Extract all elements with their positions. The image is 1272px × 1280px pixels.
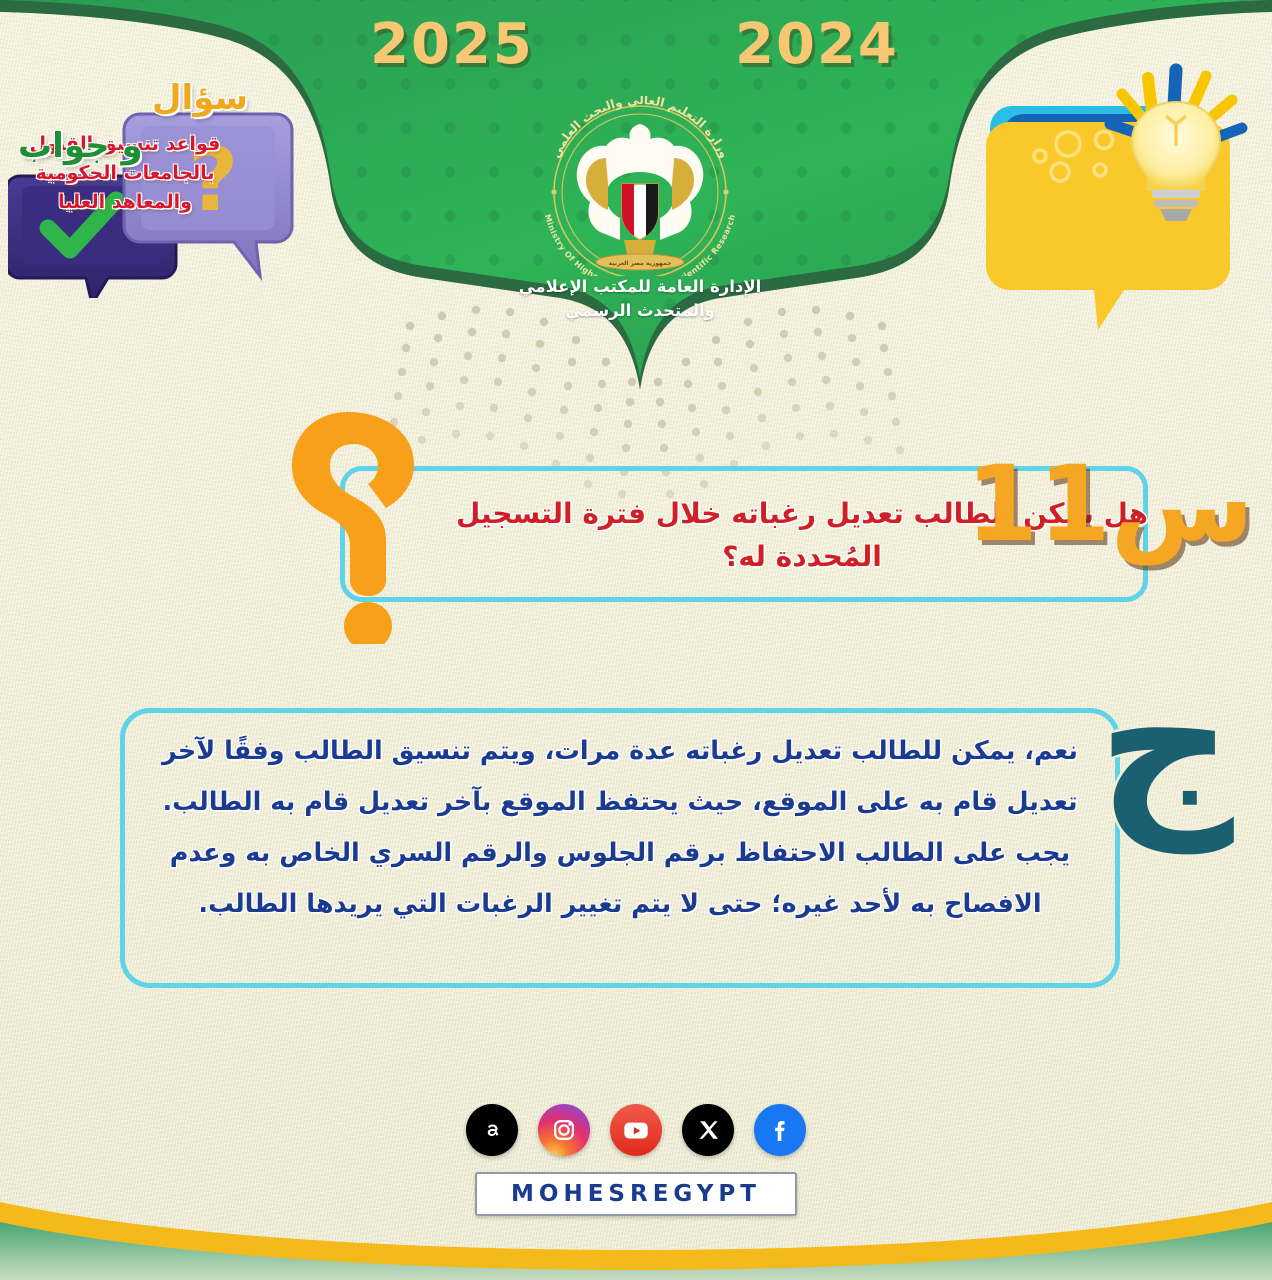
x-twitter-icon[interactable] (682, 1104, 734, 1156)
answer-letter-badge: ج (1097, 648, 1234, 838)
answer-text: نعم، يمكن للطالب تعديل رغباته عدة مرات، … (150, 726, 1090, 930)
year-2024-label: 2024 (735, 12, 899, 77)
rules-card (980, 62, 1250, 362)
instagram-icon[interactable] (538, 1104, 590, 1156)
threads-icon[interactable] (466, 1104, 518, 1156)
social-links-row (0, 1104, 1272, 1156)
facebook-icon[interactable] (754, 1104, 806, 1156)
gawab-label: و جواب (18, 126, 143, 166)
ministry-caption: الإدارة العامة للمكتب الإعلامي والمتحدث … (455, 275, 825, 323)
infographic-poster: 2025 2024 وزارة التعليم العالي والبحث ال… (0, 0, 1272, 1280)
ministry-logo: وزارة التعليم العالي والبحث العلمي Minis… (520, 96, 760, 276)
svg-text:جمهورية مصر العربية: جمهورية مصر العربية (609, 260, 672, 267)
bottom-decorative-band (0, 1200, 1272, 1280)
rules-line-3: والمعاهد العليا (20, 188, 230, 217)
ministry-caption-line2: والمتحدث الرسمي (455, 299, 825, 323)
eagle-glyph: جمهورية مصر العربية (577, 124, 704, 270)
question-mark-icon (282, 404, 432, 644)
youtube-icon[interactable] (610, 1104, 662, 1156)
ministry-caption-line1: الإدارة العامة للمكتب الإعلامي (455, 275, 825, 299)
year-2025-label: 2025 (370, 12, 534, 77)
soal-label: سؤال (152, 78, 248, 118)
question-number-badge: س11 (966, 452, 1254, 556)
